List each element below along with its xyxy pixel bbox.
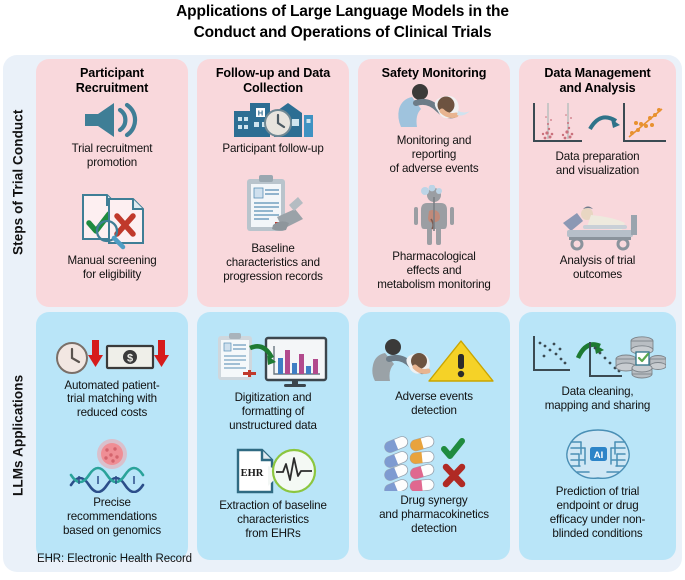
item-data-preparation: Data preparation and visualization	[525, 99, 670, 178]
svg-text:H: H	[258, 108, 263, 117]
body-metabolism-icon	[364, 185, 504, 247]
row-label-llms-applications: LLMs Applications	[3, 310, 33, 560]
item-analysis-of-trial-outcomes: Analysis of trial outcomes	[525, 197, 670, 282]
item-caption: Monitoring and reporting of adverse even…	[390, 134, 479, 176]
item-caption: Adverse events detection	[395, 390, 473, 418]
item-caption: Data cleaning, mapping and sharing	[545, 385, 650, 413]
item-caption: Manual screening for eligibility	[67, 254, 156, 282]
figure-title: Applications of Large Language Models in…	[0, 2, 685, 44]
card-title: Follow-up and Data Collection	[216, 66, 330, 97]
item-monitoring-adverse-events: Monitoring and reporting of adverse even…	[364, 83, 504, 176]
card-title: Data Management and Analysis	[544, 66, 650, 97]
item-baseline-characteristics: Baseline characteristics and progression…	[203, 173, 343, 284]
llm-applications-row: $ Automated patient- trial matching with…	[36, 312, 676, 560]
card-data-management-and-analysis[interactable]: Data Management and Analysis	[519, 59, 676, 307]
card-llm-data-management[interactable]: Data cleaning, mapping and sharing	[519, 312, 676, 560]
item-caption: Precise recommendations based on genomic…	[63, 496, 161, 538]
item-automated-patient-trial-matching: $ Automated patient- trial matching with…	[42, 336, 182, 421]
clipboard-hand-pen-icon	[203, 173, 343, 239]
figure-root: Applications of Large Language Models in…	[0, 0, 685, 580]
ai-brain-icon: AI	[525, 426, 670, 482]
figure-frame: Steps of Trial Conduct LLMs Applications…	[3, 55, 682, 572]
item-caption: Pharmacological effects and metabolism m…	[377, 250, 490, 292]
item-extraction-of-baseline-characteristics: EHR Extraction of baseline characteristi…	[203, 446, 343, 541]
item-trial-recruitment-promotion: Trial recruitment promotion	[42, 99, 182, 170]
item-caption: Baseline characteristics and progression…	[223, 242, 323, 284]
scatter-to-database-icon	[525, 332, 670, 382]
cell-dna-icon	[42, 437, 182, 493]
item-drug-synergy-detection: Drug synergy and pharmacokinetics detect…	[364, 435, 504, 536]
steps-row: Participant Recruitment Trial recruitmen…	[36, 59, 676, 307]
item-caption: Extraction of baseline characteristics f…	[219, 499, 327, 541]
item-caption: Prediction of trial endpoint or drug eff…	[550, 485, 646, 541]
ehr-ecg-icon: EHR	[203, 446, 343, 496]
card-participant-recruitment[interactable]: Participant Recruitment Trial recruitmen…	[36, 59, 188, 307]
figure-title-line-2: Conduct and Operations of Clinical Trial…	[0, 23, 685, 44]
item-caption: Participant follow-up	[222, 142, 323, 156]
item-manual-screening: Manual screening for eligibility	[42, 189, 182, 282]
megaphone-icon	[42, 99, 182, 139]
hospital-clock-icon: H	[203, 99, 343, 139]
svg-text:$: $	[127, 352, 133, 364]
pills-check-cross-icon	[364, 435, 504, 491]
card-follow-up-and-data-collection[interactable]: Follow-up and Data Collection H	[197, 59, 349, 307]
clipboard-to-monitor-chart-icon	[203, 332, 343, 388]
item-caption: Drug synergy and pharmacokinetics detect…	[379, 494, 489, 536]
item-caption: Data preparation and visualization	[556, 150, 640, 178]
row-label-steps-of-trial-conduct: Steps of Trial Conduct	[3, 58, 33, 306]
item-digitization-and-formatting: Digitization and formatting of unstructu…	[203, 332, 343, 433]
ai-icon-label: AI	[593, 450, 603, 461]
patient-warning-icon	[364, 337, 504, 387]
item-data-cleaning-mapping-sharing: Data cleaning, mapping and sharing	[525, 332, 670, 413]
item-caption: Analysis of trial outcomes	[560, 254, 635, 282]
item-adverse-events-detection: Adverse events detection	[364, 337, 504, 418]
item-caption: Automated patient- trial matching with r…	[64, 379, 159, 421]
footnote-ehr-abbreviation: EHR: Electronic Health Record	[37, 553, 192, 565]
document-screening-icon	[42, 189, 182, 251]
card-llm-safety-monitoring[interactable]: Adverse events detection	[358, 312, 510, 560]
hospital-bed-patient-icon	[525, 197, 670, 251]
item-prediction-of-trial-endpoint: AI Prediction of trial endpoint or drug …	[525, 426, 670, 541]
card-safety-monitoring[interactable]: Safety Monitoring	[358, 59, 510, 307]
card-title: Participant Recruitment	[76, 66, 148, 97]
item-participant-follow-up: H Participant foll	[203, 99, 343, 156]
figure-title-line-1: Applications of Large Language Models in…	[0, 2, 685, 23]
item-caption: Trial recruitment promotion	[72, 142, 153, 170]
item-caption: Digitization and formatting of unstructu…	[229, 391, 317, 433]
patient-vomiting-icon	[364, 83, 504, 131]
scatter-transform-icon	[525, 99, 670, 147]
card-title: Safety Monitoring	[382, 66, 487, 81]
card-llm-participant-recruitment[interactable]: $ Automated patient- trial matching with…	[36, 312, 188, 560]
ehr-icon-label: EHR	[241, 468, 264, 479]
clock-money-arrows-icon: $	[42, 336, 182, 376]
item-precise-recommendations: Precise recommendations based on genomic…	[42, 437, 182, 538]
item-pharmacological-effects: Pharmacological effects and metabolism m…	[364, 185, 504, 292]
card-llm-data-collection[interactable]: Digitization and formatting of unstructu…	[197, 312, 349, 560]
